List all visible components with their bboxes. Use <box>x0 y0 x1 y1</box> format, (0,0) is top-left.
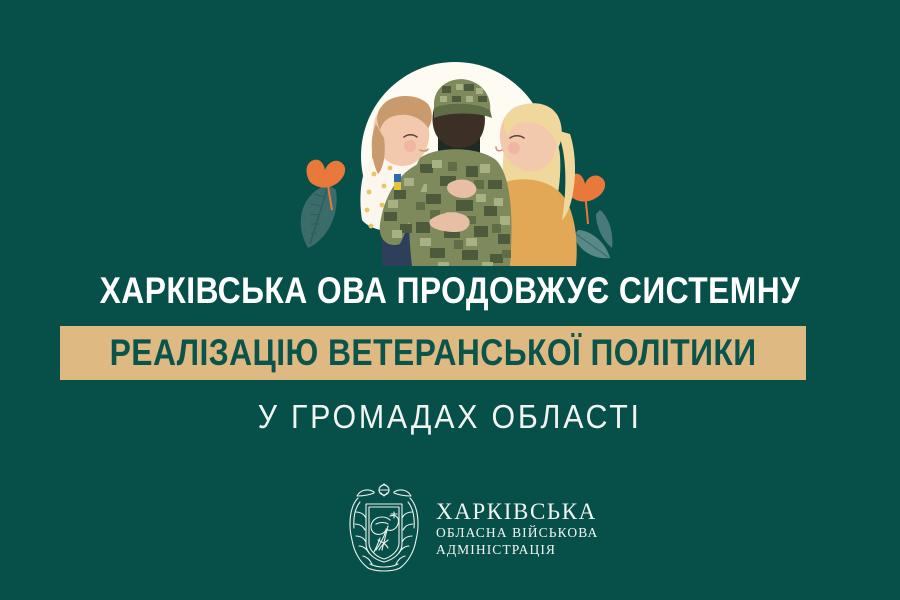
poster-canvas: ХАРКІВСЬКА ОВА ПРОДОВЖУЄ СИСТЕМНУ РЕАЛІЗ… <box>0 0 900 600</box>
organization-logo: ХАРКІВСЬКА ОБЛАСНА ВІЙСЬКОВА АДМІНІСТРАЦ… <box>344 482 598 574</box>
logo-line-1: ХАРКІВСЬКА <box>436 499 598 524</box>
headline-line-1: ХАРКІВСЬКА ОВА ПРОДОВЖУЄ СИСТЕМНУ <box>63 268 837 314</box>
headline-line-2: РЕАЛІЗАЦІЮ ВЕТЕРАНСЬКОЇ ПОЛІТИКИ <box>110 332 757 374</box>
ukrainian-flag-patch <box>394 174 401 190</box>
logo-line-3: АДМІНІСТРАЦІЯ <box>436 541 598 558</box>
headline-line-3-wrapper: У ГРОМАДАХ ОБЛАСТІ <box>0 398 900 436</box>
logo-text-block: ХАРКІВСЬКА ОБЛАСНА ВІЙСЬКОВА АДМІНІСТРАЦ… <box>436 499 598 558</box>
kharkiv-coat-of-arms-icon <box>344 482 424 574</box>
illustration-container <box>270 34 630 266</box>
soldier-family-embrace-illustration <box>270 34 630 266</box>
logo-line-2: ОБЛАСНА ВІЙСЬКОВА <box>436 524 598 541</box>
highlight-band: РЕАЛІЗАЦІЮ ВЕТЕРАНСЬКОЇ ПОЛІТИКИ <box>60 326 806 380</box>
headline-line-3: У ГРОМАДАХ ОБЛАСТІ <box>258 398 642 436</box>
headline-block: ХАРКІВСЬКА ОВА ПРОДОВЖУЄ СИСТЕМНУ <box>0 268 900 314</box>
